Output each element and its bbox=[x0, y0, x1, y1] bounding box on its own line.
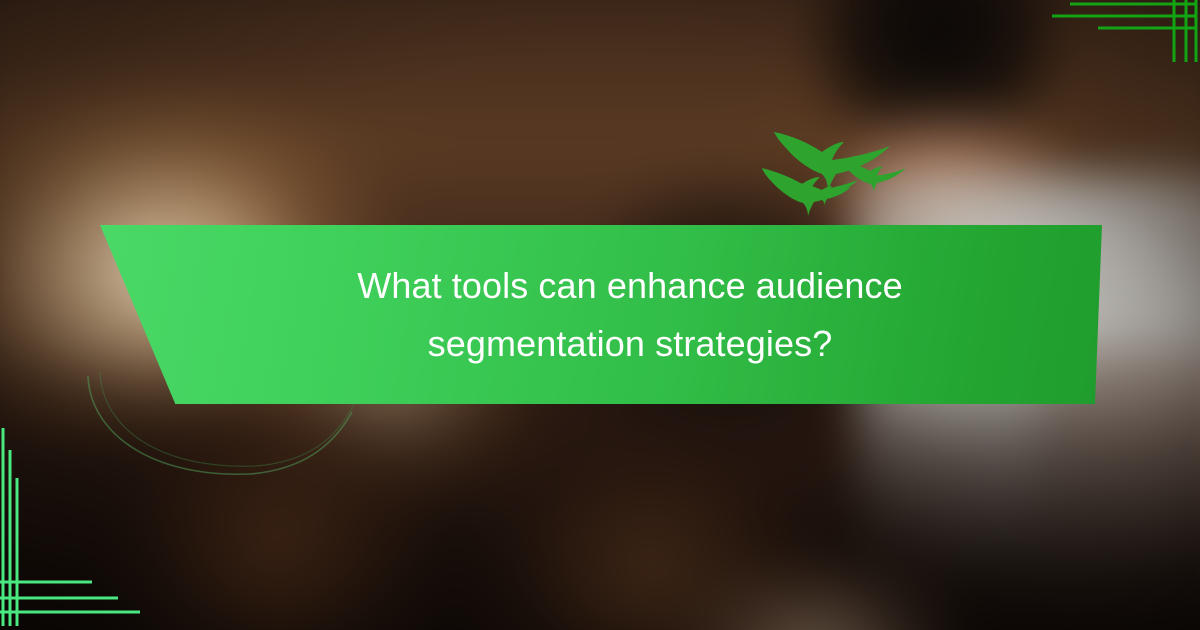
page-title: What tools can enhance audience segmenta… bbox=[357, 257, 902, 373]
flying-birds-icon bbox=[760, 112, 1020, 232]
corner-bracket-top-right-icon bbox=[1030, 0, 1200, 62]
headline-banner-inner: What tools can enhance audience segmenta… bbox=[98, 225, 1102, 404]
corner-bracket-bottom-left-icon bbox=[0, 420, 140, 630]
banner-canvas: What tools can enhance audience segmenta… bbox=[0, 0, 1200, 630]
headline-banner: What tools can enhance audience segmenta… bbox=[98, 225, 1102, 404]
